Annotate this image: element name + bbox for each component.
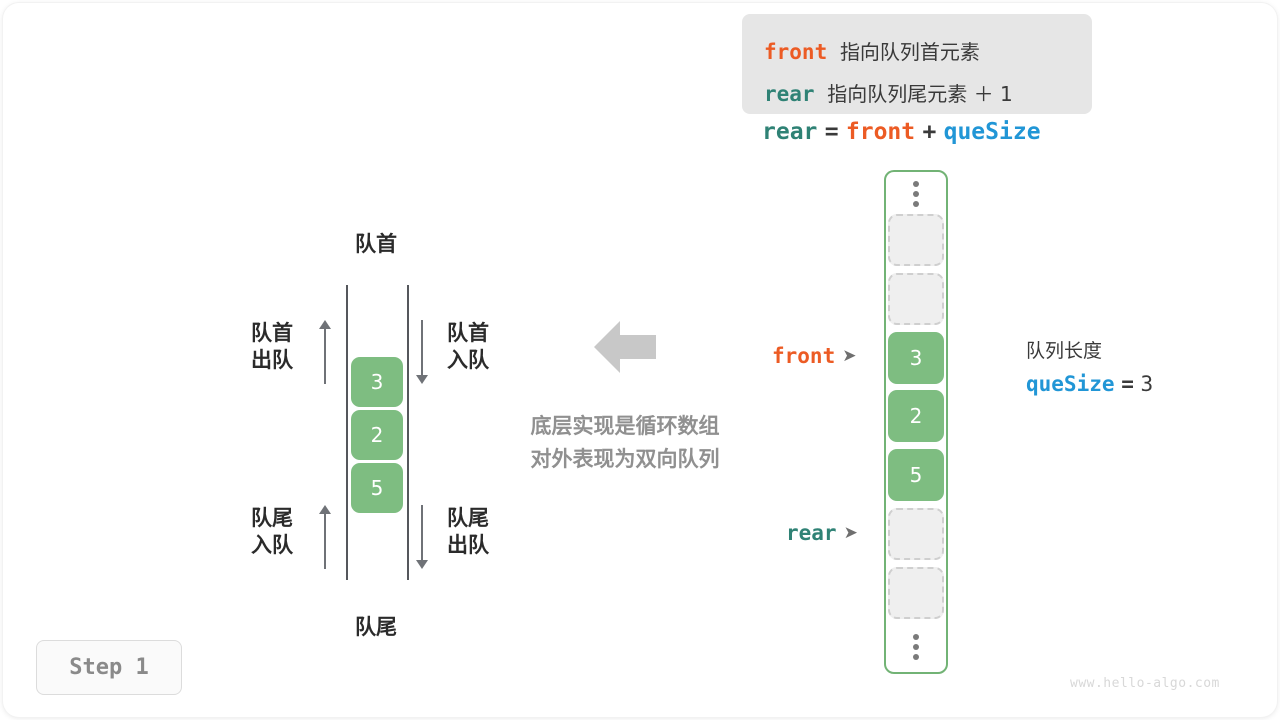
deque-rail-right	[407, 285, 409, 580]
quesize-var: queSize	[1026, 372, 1115, 396]
pointer-legend-box: front 指向队列首元素 rear 指向队列尾元素 ＋ 1	[742, 14, 1092, 114]
op-rear-enqueue: 队尾 入队	[251, 505, 311, 559]
deque-head-label: 队首	[346, 228, 406, 258]
step-badge: Step 1	[36, 640, 182, 695]
array-bottom-ellipsis-icon	[908, 634, 924, 660]
rear-pointer-text: rear	[786, 521, 837, 545]
legend-line-rear: rear 指向队列尾元素 ＋ 1	[764, 84, 1013, 105]
legend-rear-term: rear	[764, 82, 815, 106]
front-pointer-text: front	[772, 344, 835, 368]
rear-formula: rear = front + queSize	[762, 121, 1041, 144]
array-cell-5[interactable]	[888, 508, 944, 560]
array-cell-4-value: 5	[910, 463, 923, 487]
array-cell-2[interactable]: 3	[888, 332, 944, 384]
op-front-enqueue-l1: 队首	[447, 320, 489, 347]
formula-rear: rear	[762, 119, 817, 145]
deque-rail-left	[346, 285, 348, 580]
center-caption: 底层实现是循环数组 对外表现为双向队列	[503, 410, 747, 476]
op-front-dequeue: 队首 出队	[251, 320, 311, 374]
legend-line-front: front 指向队列首元素	[764, 42, 980, 63]
diagram-canvas: front 指向队列首元素 rear 指向队列尾元素 ＋ 1 rear = fr…	[0, 0, 1280, 720]
formula-equals: =	[825, 119, 839, 145]
array-cell-4[interactable]: 5	[888, 449, 944, 501]
op-rear-dequeue: 队尾 出队	[447, 505, 489, 559]
front-pointer-label: front➤	[772, 346, 856, 367]
front-pointer-arrow-icon: ➤	[842, 346, 856, 367]
op-front-dequeue-l2: 出队	[251, 347, 311, 374]
deque-cell-1[interactable]: 2	[351, 410, 403, 460]
formula-quesize: queSize	[944, 119, 1041, 145]
deque-cell-0-value: 3	[371, 370, 384, 394]
big-left-arrow-icon	[594, 318, 656, 376]
center-caption-line2: 对外表现为双向队列	[503, 443, 747, 476]
legend-front-term: front	[764, 40, 827, 64]
op-rear-enqueue-l2: 入队	[251, 532, 311, 559]
quesize-note-title: 队列长度	[1026, 338, 1153, 364]
array-cell-3-value: 2	[910, 404, 923, 428]
legend-front-text: 指向队列首元素	[840, 40, 980, 64]
array-top-ellipsis-icon	[908, 181, 924, 207]
quesize-note-expr: queSize = 3	[1026, 369, 1153, 399]
deque-cell-2[interactable]: 5	[351, 463, 403, 513]
formula-front: front	[846, 119, 915, 145]
array-cell-3[interactable]: 2	[888, 390, 944, 442]
op-front-dequeue-l1: 队首	[251, 320, 311, 347]
array-cell-6[interactable]	[888, 567, 944, 619]
op-front-enqueue: 队首 入队	[447, 320, 489, 374]
quesize-value: 3	[1141, 372, 1154, 396]
op-front-enqueue-l2: 入队	[447, 347, 489, 374]
array-cell-2-value: 3	[910, 346, 923, 370]
rear-pointer-arrow-icon: ➤	[844, 523, 858, 544]
op-rear-dequeue-l1: 队尾	[447, 505, 489, 532]
array-cell-1[interactable]	[888, 273, 944, 325]
center-caption-line1: 底层实现是循环数组	[503, 410, 747, 443]
op-rear-dequeue-l2: 出队	[447, 532, 489, 559]
rear-pointer-label: rear➤	[786, 523, 858, 544]
deque-cell-2-value: 5	[371, 476, 384, 500]
watermark: www.hello-algo.com	[1070, 676, 1220, 691]
quesize-equals: =	[1121, 372, 1134, 396]
formula-plus: +	[922, 119, 936, 145]
quesize-note: 队列长度 queSize = 3	[1026, 338, 1153, 399]
op-rear-enqueue-l1: 队尾	[251, 505, 311, 532]
deque-tail-label: 队尾	[346, 611, 406, 641]
array-cell-0[interactable]	[888, 214, 944, 266]
legend-rear-text: 指向队列尾元素 ＋ 1	[827, 82, 1012, 106]
deque-cell-0[interactable]: 3	[351, 357, 403, 407]
deque-cell-1-value: 2	[371, 423, 384, 447]
